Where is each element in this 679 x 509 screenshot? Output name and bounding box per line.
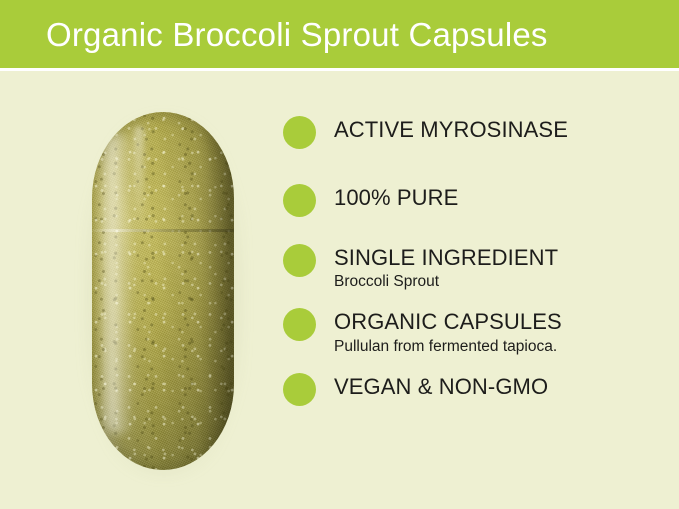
feature-list: ACTIVE MYROSINASE 100% PURE SINGLE INGRE… <box>283 116 663 406</box>
product-infographic: Organic Broccoli Sprout Capsules ACTIVE … <box>0 0 679 509</box>
capsule-body <box>92 112 234 470</box>
feature-text: ORGANIC CAPSULES Pullulan from fermented… <box>334 308 663 356</box>
list-item: ACTIVE MYROSINASE <box>283 116 663 149</box>
feature-subtitle: Pullulan from fermented tapioca. <box>334 337 663 357</box>
feature-text: ACTIVE MYROSINASE <box>334 116 663 142</box>
feature-text: SINGLE INGREDIENT Broccoli Sprout <box>334 244 663 292</box>
feature-text: 100% PURE <box>334 184 663 210</box>
capsule-highlight <box>108 134 132 434</box>
feature-subtitle: Broccoli Sprout <box>334 272 663 292</box>
page-title: Organic Broccoli Sprout Capsules <box>0 18 548 51</box>
header-banner: Organic Broccoli Sprout Capsules <box>0 0 679 68</box>
feature-title: ACTIVE MYROSINASE <box>334 117 663 142</box>
bullet-dot-icon <box>283 184 316 217</box>
bullet-dot-icon <box>283 373 316 406</box>
product-image <box>78 104 248 484</box>
list-item: ORGANIC CAPSULES Pullulan from fermented… <box>283 308 663 356</box>
list-item: 100% PURE <box>283 184 663 217</box>
feature-title: 100% PURE <box>334 185 663 210</box>
feature-title: SINGLE INGREDIENT <box>334 245 663 270</box>
capsule-rim-shading <box>204 116 234 466</box>
bullet-dot-icon <box>283 244 316 277</box>
feature-title: VEGAN & NON-GMO <box>334 374 663 399</box>
capsule-highlight-secondary <box>134 126 144 236</box>
feature-text: VEGAN & NON-GMO <box>334 373 663 399</box>
feature-title: ORGANIC CAPSULES <box>334 309 663 334</box>
bullet-dot-icon <box>283 116 316 149</box>
bullet-dot-icon <box>283 308 316 341</box>
list-item: SINGLE INGREDIENT Broccoli Sprout <box>283 244 663 292</box>
header-divider <box>0 68 679 71</box>
list-item: VEGAN & NON-GMO <box>283 373 663 406</box>
